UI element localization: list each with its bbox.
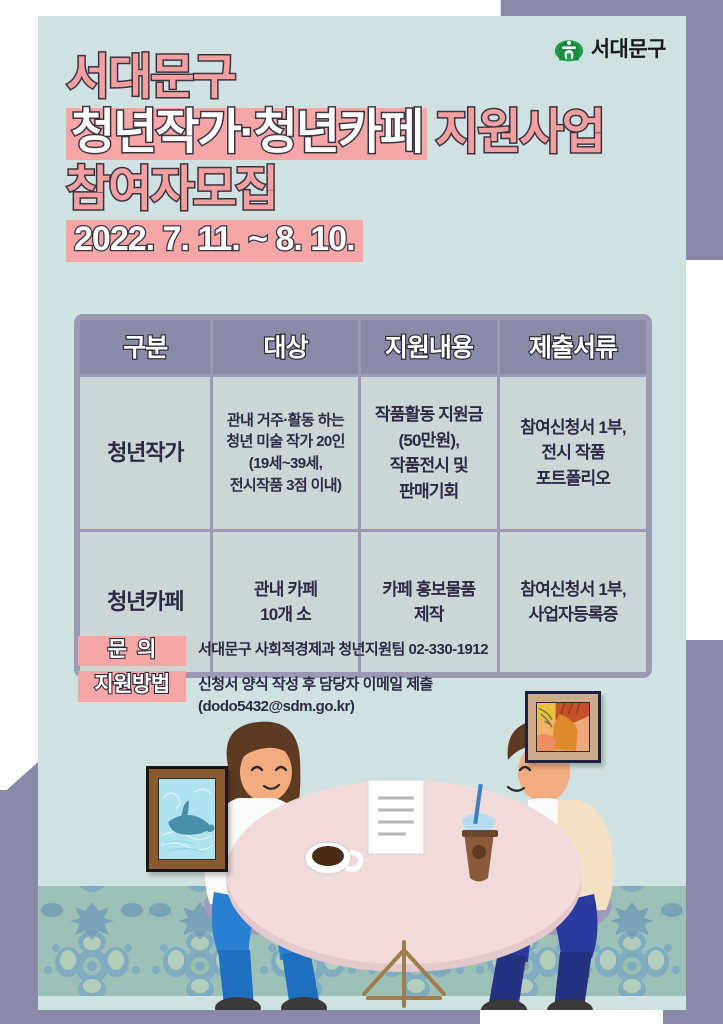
contact-apply-value: 신청서 양식 작성 후 담당자 이메일 제출 (dodo5432@sdm.go.… bbox=[198, 671, 433, 718]
table-header-row: 구분 대상 지원내용 제출서류 bbox=[80, 320, 646, 374]
contact-inquiry-row: 문의 서대문구 사회적경제과 청년지원팀 02-330-1912 bbox=[78, 636, 488, 666]
headline-line-2: 청년작가·청년카페지원사업 bbox=[66, 108, 604, 160]
headline-line-1: 서대문구 bbox=[66, 54, 604, 102]
date-range-text: 2022. 7. 11. ~ 8. 10. bbox=[66, 220, 363, 262]
table-header-category: 구분 bbox=[80, 320, 210, 374]
contact-apply-label: 지원방법 bbox=[78, 671, 186, 701]
headline-block: 서대문구 청년작가·청년카페지원사업 참여자모집 2022. 7. 11. ~ … bbox=[66, 54, 604, 268]
table-row: 청년작가 관내 거주·활동 하는 청년 미술 작가 20인 (19세~39세, … bbox=[80, 377, 646, 529]
contact-inquiry-label: 문의 bbox=[78, 636, 186, 666]
program-info-table: 구분 대상 지원내용 제출서류 청년작가 관내 거주·활동 하는 청년 미술 작… bbox=[74, 314, 652, 678]
row2-documents: 참여신청서 1부, 사업자등록증 bbox=[500, 532, 646, 672]
framed-abstract-painting bbox=[525, 691, 601, 763]
framed-whale-painting bbox=[146, 766, 228, 872]
headline-line-1-text: 서대문구 bbox=[66, 51, 235, 104]
decoration-purple-left bbox=[0, 790, 38, 1024]
document-on-table bbox=[368, 780, 424, 854]
headline-line-3: 참여자모집 bbox=[66, 166, 604, 214]
headline-line-2-highlight: 청년작가·청년카페 bbox=[66, 108, 427, 160]
headline-line-3-text: 참여자모집 bbox=[66, 163, 277, 216]
row1-support: 작품활동 지원금 (50만원), 작품전시 및 판매기회 bbox=[361, 377, 497, 529]
poster-card: 서대문구 서대문구 청년작가·청년카페지원사업 참여자모집 2022. 7. 1… bbox=[38, 16, 686, 1010]
decoration-purple-diagonal-left bbox=[0, 762, 38, 796]
decoration-purple-bottom bbox=[0, 1008, 480, 1024]
table-header-target: 대상 bbox=[213, 320, 357, 374]
row1-target: 관내 거주·활동 하는 청년 미술 작가 20인 (19세~39세, 전시작품 … bbox=[213, 377, 357, 529]
table-header-documents: 제출서류 bbox=[500, 320, 646, 374]
contact-block: 문의 서대문구 사회적경제과 청년지원팀 02-330-1912 지원방법 신청… bbox=[78, 636, 488, 723]
contact-apply-row: 지원방법 신청서 양식 작성 후 담당자 이메일 제출 (dodo5432@sd… bbox=[78, 671, 488, 718]
poster-root: 서대문구 서대문구 청년작가·청년카페지원사업 참여자모집 2022. 7. 1… bbox=[0, 0, 723, 1024]
row1-category: 청년작가 bbox=[80, 377, 210, 529]
headline-date-line: 2022. 7. 11. ~ 8. 10. bbox=[66, 220, 604, 262]
table-header-support: 지원내용 bbox=[361, 320, 497, 374]
headline-line-2-rest: 지원사업 bbox=[427, 109, 604, 157]
contact-inquiry-value: 서대문구 사회적경제과 청년지원팀 02-330-1912 bbox=[198, 636, 488, 661]
row1-documents: 참여신청서 1부, 전시 작품 포트폴리오 bbox=[500, 377, 646, 529]
